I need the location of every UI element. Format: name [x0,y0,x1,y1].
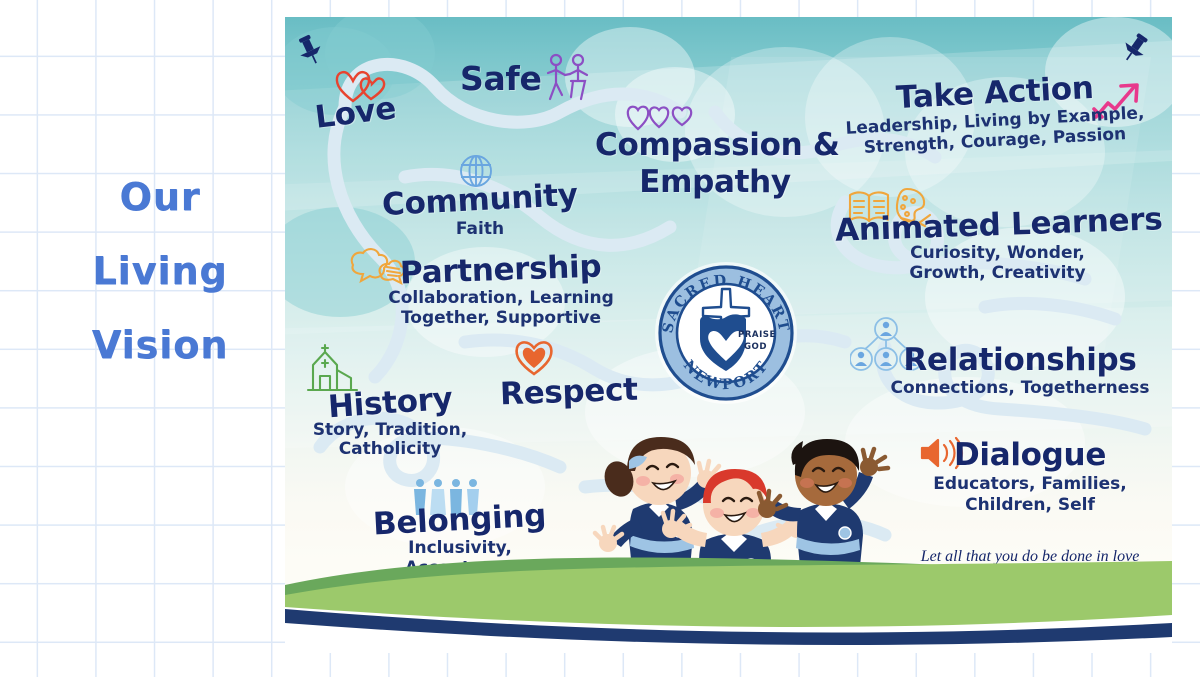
value-relationships-sub: Connections, Togetherness [875,379,1165,398]
value-partnership-sub-line-2: Together, Supportive [371,309,631,328]
heart-icon [513,337,555,377]
value-love-heading: Love [313,90,398,136]
value-partnership: Partnership Collaboration, Learning Toge… [371,252,631,328]
value-history-sub-line-2: Catholicity [300,440,480,459]
logo-inner-text-1: PRAISE [738,330,776,340]
value-safe-heading: Safe [460,59,542,98]
bottom-hills [285,523,1172,653]
value-compassion-heading-line-1: Compassion & [595,127,835,164]
value-animated-learners-heading: Animated Learners [834,201,1163,248]
value-dialogue-sub-line-1: Educators, Families, [895,475,1165,494]
value-history-heading: History [327,381,454,426]
value-dialogue-sub-line-2: Children, Self [895,496,1165,515]
page-title-line-3: Vision [60,308,260,382]
two-people-icon [543,51,591,103]
value-dialogue-heading: Dialogue [895,437,1165,473]
value-safe: Safe [460,59,542,98]
school-logo: PRAISE GOD SACRED HEART NEWPORT [652,259,800,407]
page-title-line-2: Living [60,234,260,308]
logo-inner-text-2: GOD [744,342,767,352]
vision-poster: PRAISE GOD SACRED HEART NEWPORT Love Saf… [285,17,1172,653]
value-animated-learners-sub-line-2: Growth, Creativity [835,264,1160,283]
value-animated-learners: Animated Learners Curiosity, Wonder, Gro… [835,207,1160,283]
value-community: Community Faith [380,182,580,239]
pin-icon [1118,31,1152,65]
value-compassion-heading-line-2: Empathy [595,164,835,201]
value-history-sub-line-1: Story, Tradition, [300,421,480,440]
value-partnership-sub-line-1: Collaboration, Learning [371,289,631,308]
pin-icon [293,33,327,67]
value-community-sub: Faith [380,220,580,239]
value-take-action: Take Action Leadership, Living by Exampl… [830,75,1160,151]
value-respect: Respect [500,374,638,410]
value-compassion-empathy: Compassion & Empathy [595,127,835,200]
value-history: History Story, Tradition, Catholicity [300,385,480,459]
value-dialogue: Dialogue Educators, Families, Children, … [895,437,1165,515]
page-title-line-1: Our [60,160,260,234]
value-love: Love [315,95,396,131]
value-community-heading: Community [381,177,578,223]
page-title: Our Living Vision [60,160,260,382]
value-partnership-heading: Partnership [400,248,602,291]
value-respect-heading: Respect [499,372,638,413]
value-relationships-heading: Relationships [875,342,1165,378]
value-relationships: Relationships Connections, Togetherness [875,342,1165,398]
